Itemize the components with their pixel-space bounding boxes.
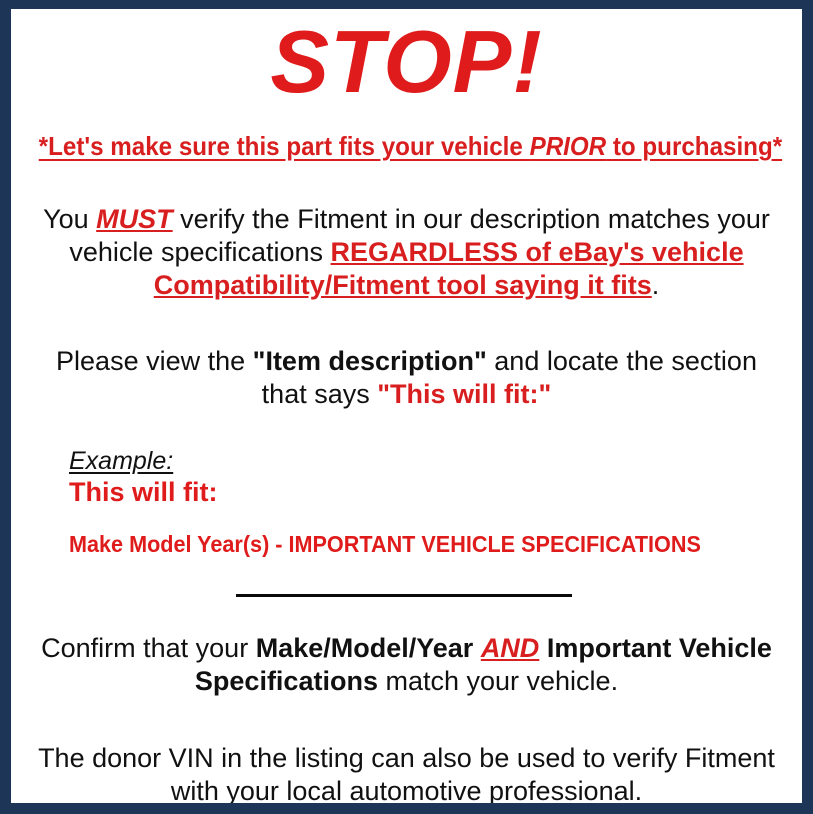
make-model-year-emphasis: Make/Model/Year [256,633,474,663]
must-emphasis: MUST [96,204,173,234]
confirm-part1: Confirm that your [41,633,256,663]
must-paragraph-part3: . [652,270,660,300]
confirm-part2 [473,633,481,663]
must-verify-paragraph: You MUST verify the Fitment in our descr… [31,203,783,302]
must-paragraph-part1: You [43,204,96,234]
example-fit-heading: This will fit: [69,477,802,507]
item-description-paragraph: Please view the "Item description" and l… [31,345,783,411]
itemdesc-part1: Please view the [56,346,253,376]
sub-headline-prefix: *Let's make sure this part fits your veh… [39,131,530,161]
this-will-fit-emphasis: "This will fit:" [377,379,551,409]
example-block: Example: This will fit: Make Model Year(… [11,447,802,557]
donor-vin-paragraph: The donor VIN in the listing can also be… [31,742,783,803]
confirm-paragraph: Confirm that your Make/Model/Year AND Im… [31,632,783,698]
item-description-emphasis: "Item description" [253,346,487,376]
example-spec-line: Make Model Year(s) - IMPORTANT VEHICLE S… [69,531,758,557]
section-divider [236,594,572,597]
sub-headline-emphasis-prior: PRIOR [530,131,607,161]
divider-wrapper [11,584,802,602]
example-label: Example: [69,447,802,475]
confirm-part4: match your vehicle. [378,666,618,696]
and-emphasis: AND [481,633,540,663]
stop-headline: STOP! [11,18,802,106]
sub-headline: *Let's make sure this part fits your veh… [39,132,775,161]
confirm-part3 [539,633,547,663]
fitment-notice-card: STOP! *Let's make sure this part fits yo… [0,0,813,814]
notice-inner-panel: STOP! *Let's make sure this part fits yo… [11,9,802,803]
sub-headline-suffix: to purchasing* [606,131,782,161]
